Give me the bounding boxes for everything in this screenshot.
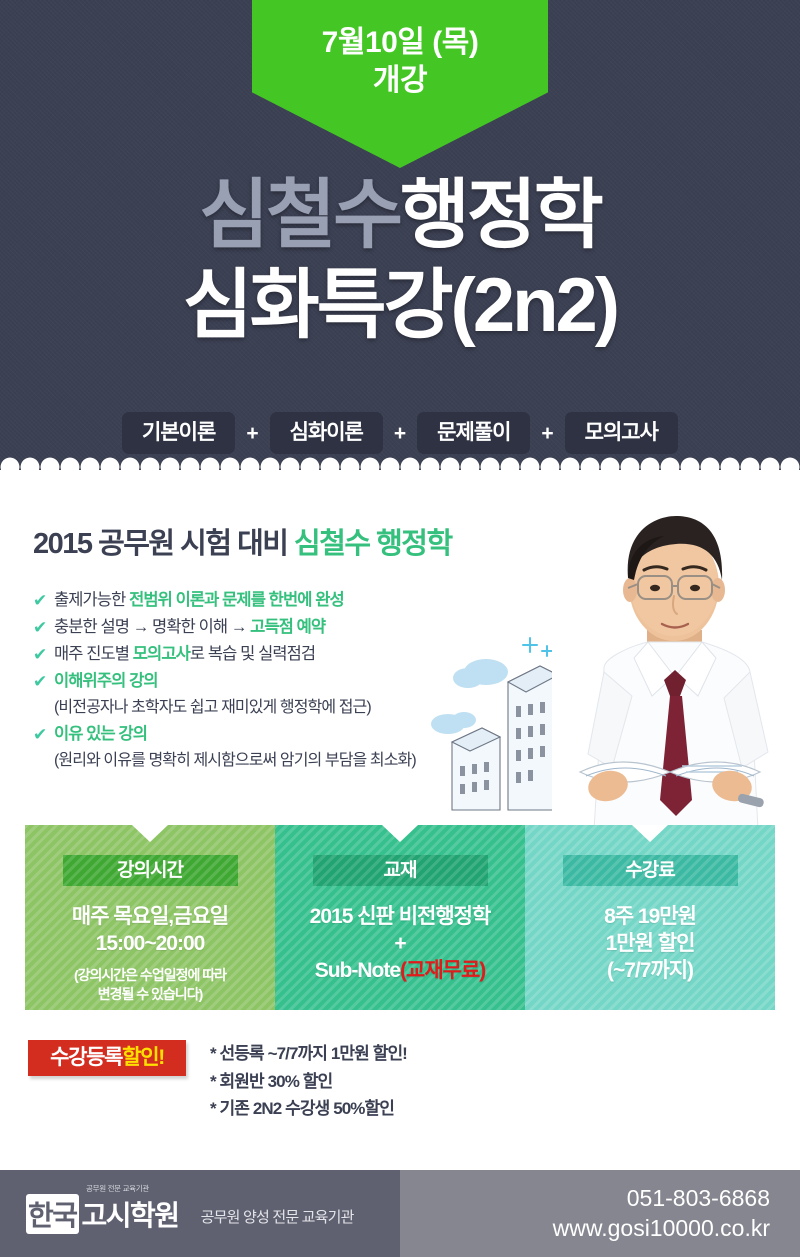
schedule-days: 매주 목요일,금요일 (25, 904, 275, 931)
panel-notch-icon (632, 825, 668, 842)
discount-badge-accent: 할인! (122, 1046, 164, 1069)
website-url[interactable]: www.gosi10000.co.kr (553, 1214, 770, 1244)
launch-date-text: 7월10일 (목) (252, 26, 548, 59)
tuition-deadline: (~7/7까지) (525, 958, 775, 985)
bullet-2-part-2: 고득점 예약 (250, 618, 325, 636)
schedule-time: 15:00~20:00 (25, 931, 275, 958)
textbook-subnote: Sub-Note(교재무료) (275, 958, 525, 985)
check-icon: ✔ (33, 669, 54, 694)
discount-badge: 수강등록할인! (28, 1040, 186, 1076)
footer-tagline: 공무원 양성 전문 교육기관 (201, 1206, 354, 1227)
bullet-4-subtext: (비전공자나 초학자도 쉽고 재미있게 행정학에 접근) (33, 696, 463, 720)
panel-notch-icon (382, 825, 418, 842)
subnote-free-badge: (교재무료) (400, 959, 485, 982)
panel-notch-icon (132, 825, 168, 842)
section-headline: 2015 공무원 시험 대비 심철수 행정학 (33, 520, 452, 562)
logo-main-text: 한국고시학원 (26, 1194, 179, 1234)
panel-schedule-header: 강의시간 (63, 855, 238, 886)
textbook-title: 2015 신판 비전행정학 (275, 904, 525, 931)
check-icon: ✔ (33, 642, 54, 667)
check-icon: ✔ (33, 615, 54, 640)
course-tag-4[interactable]: 모의고사 (565, 412, 678, 454)
subnote-label: Sub-Note (315, 959, 400, 982)
scalloped-divider (0, 455, 800, 470)
course-tag-1[interactable]: 기본이론 (122, 412, 235, 454)
check-icon: ✔ (33, 722, 54, 747)
bullet-3-part-1: 매주 진도별 (54, 645, 133, 663)
footer-left: 공무원 전문 교육기관 한국고시학원 공무원 양성 전문 교육기관 (0, 1170, 400, 1257)
headline-accent: 심철수 행정학 (294, 528, 452, 560)
panel-textbook: 교재 2015 신판 비전행정학 + Sub-Note(교재무료) (275, 825, 525, 1010)
bullet-5-subtext: (원리와 이유를 명확히 제시함으로써 암기의 부담을 최소화) (33, 749, 463, 773)
footer: 공무원 전문 교육기관 한국고시학원 공무원 양성 전문 교육기관 051-80… (0, 1170, 800, 1257)
list-item: ✔ 이유 있는 강의 (33, 722, 463, 747)
bullet-2-part-1: 충분한 설명 → 명확한 이해 → (54, 618, 250, 636)
title-line-1: 심철수행정학 (0, 178, 800, 254)
panel-tuition-body: 8주 19만원 1만원 할인 (~7/7까지) (525, 904, 775, 985)
contact-block: 051-803-6868 www.gosi10000.co.kr (553, 1184, 770, 1244)
textbook-plus: + (275, 931, 525, 958)
course-tag-2[interactable]: 심화이론 (270, 412, 383, 454)
poster: 7월10일 (목) 개강 심철수행정학 심화특강(2n2) 기본이론 + 심화이… (0, 0, 800, 1257)
info-panel-row: 강의시간 매주 목요일,금요일 15:00~20:00 (강의시간은 수업일정에… (25, 825, 775, 1010)
launch-label-text: 개강 (252, 64, 548, 97)
bullet-text-3: 매주 진도별 모의고사로 복습 및 실력점검 (54, 642, 315, 667)
list-item: ✔ 매주 진도별 모의고사로 복습 및 실력점검 (33, 642, 463, 667)
logo-small-text: 공무원 전문 교육기관 (86, 1183, 149, 1194)
plus-icon-2: + (383, 423, 417, 444)
logo-rest-word: 고시학원 (82, 1200, 179, 1231)
schedule-note-line1: (강의시간은 수업일정에 따라 (25, 966, 275, 985)
title-line-2: 심화특강(2n2) (0, 268, 800, 344)
schedule-note-line2: 변경될 수 있습니다) (25, 985, 275, 1004)
list-item: ✔ 충분한 설명 → 명확한 이해 → 고득점 예약 (33, 615, 463, 640)
bullet-text-2: 충분한 설명 → 명확한 이해 → 고득점 예약 (54, 615, 325, 640)
bullet-3-part-3: 로 복습 및 실력점검 (190, 645, 315, 663)
panel-textbook-header: 교재 (313, 855, 488, 886)
phone-number[interactable]: 051-803-6868 (553, 1184, 770, 1214)
list-item: ✔ 출제가능한 전범위 이론과 문제를 한번에 완성 (33, 588, 463, 613)
discount-list: * 선등록 ~7/7까지 1만원 할인! * 회원반 30% 할인 * 기존 2… (210, 1040, 407, 1123)
discount-item-3: * 기존 2N2 수강생 50%할인 (210, 1095, 407, 1123)
list-item: ✔ 이해위주의 강의 (33, 669, 463, 694)
plus-icon-3: + (530, 423, 564, 444)
course-tag-3[interactable]: 문제풀이 (417, 412, 530, 454)
discount-item-2: * 회원반 30% 할인 (210, 1068, 407, 1096)
academy-logo: 공무원 전문 교육기관 한국고시학원 (26, 1194, 179, 1234)
panel-tuition: 수강료 8주 19만원 1만원 할인 (~7/7까지) (525, 825, 775, 1010)
discount-section: 수강등록할인! * 선등록 ~7/7까지 1만원 할인! * 회원반 30% 할… (0, 1040, 800, 1123)
check-icon: ✔ (33, 588, 54, 613)
plus-icon-1: + (235, 423, 269, 444)
feature-bullet-list: ✔ 출제가능한 전범위 이론과 문제를 한번에 완성 ✔ 충분한 설명 → 명확… (33, 588, 463, 773)
launch-date-banner: 7월10일 (목) 개강 (252, 0, 548, 168)
instructor-photo (552, 500, 800, 830)
bullet-1-part-1: 출제가능한 (54, 591, 129, 609)
discount-badge-label: 수강등록 (50, 1046, 122, 1069)
bullet-3-part-2: 모의고사 (133, 645, 190, 663)
discount-item-1: * 선등록 ~7/7까지 1만원 할인! (210, 1040, 407, 1068)
hero-section: 7월10일 (목) 개강 심철수행정학 심화특강(2n2) 기본이론 + 심화이… (0, 0, 800, 470)
panel-schedule-body: 매주 목요일,금요일 15:00~20:00 (25, 904, 275, 958)
title-instructor-name: 심철수 (199, 173, 400, 258)
course-tag-row: 기본이론 + 심화이론 + 문제풀이 + 모의고사 (0, 412, 800, 454)
headline-prefix: 2015 공무원 시험 대비 (33, 528, 294, 560)
bullet-text-1: 출제가능한 전범위 이론과 문제를 한번에 완성 (54, 588, 344, 613)
panel-tuition-header: 수강료 (563, 855, 738, 886)
tuition-discount: 1만원 할인 (525, 931, 775, 958)
panel-schedule-note: (강의시간은 수업일정에 따라 변경될 수 있습니다) (25, 966, 275, 1004)
panel-schedule: 강의시간 매주 목요일,금요일 15:00~20:00 (강의시간은 수업일정에… (25, 825, 275, 1010)
logo-first-word: 한국 (26, 1194, 79, 1234)
title-subject: 행정학 (400, 173, 601, 258)
bullet-text-5: 이유 있는 강의 (54, 722, 147, 747)
panel-textbook-body: 2015 신판 비전행정학 + Sub-Note(교재무료) (275, 904, 525, 985)
bullet-1-part-2: 전범위 이론과 문제를 한번에 완성 (129, 591, 344, 609)
footer-right: 051-803-6868 www.gosi10000.co.kr (400, 1170, 800, 1257)
tuition-price: 8주 19만원 (525, 904, 775, 931)
bullet-text-4: 이해위주의 강의 (54, 669, 158, 694)
